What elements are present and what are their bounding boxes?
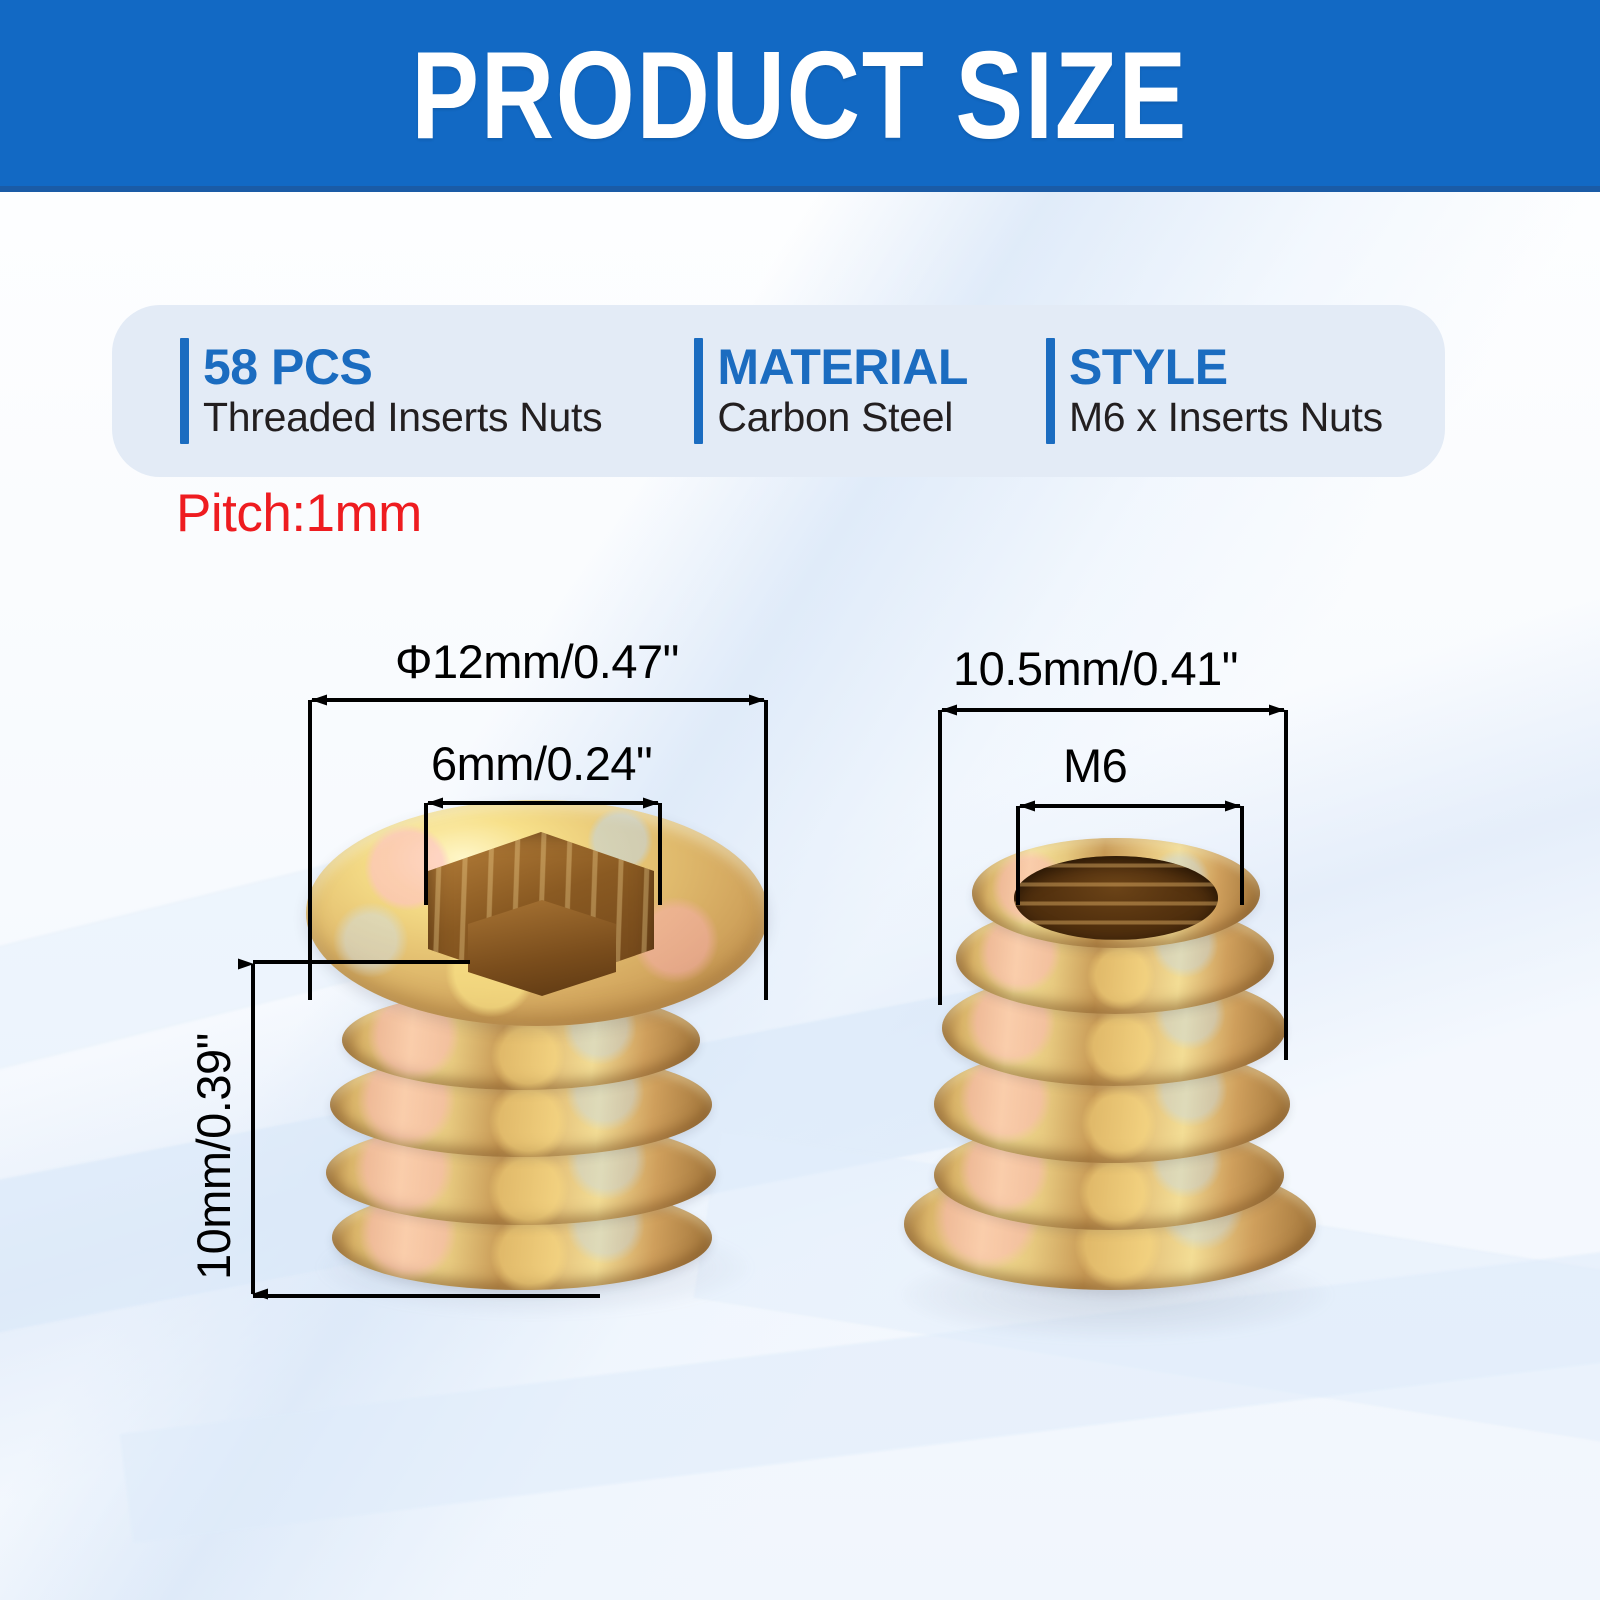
infographic-page: PRODUCT SIZE 58 PCS Threaded Inserts Nut… [0, 0, 1600, 1600]
spec-subtitle: M6 x Inserts Nuts [1069, 395, 1383, 441]
page-title: PRODUCT SIZE [412, 34, 1189, 158]
accent-bar [180, 338, 189, 444]
product-image-insert-bore-view [890, 790, 1350, 1320]
threaded-bore [1014, 856, 1218, 940]
spec-item-style: STYLE M6 x Inserts Nuts [1046, 338, 1383, 444]
accent-bar [694, 338, 703, 444]
spec-subtitle: Threaded Inserts Nuts [203, 395, 602, 441]
product-image-hex-drive-insert [300, 790, 800, 1310]
spec-item-quantity: 58 PCS Threaded Inserts Nuts [180, 338, 602, 444]
internal-thread-marks [1014, 856, 1218, 940]
spec-title: 58 PCS [203, 341, 602, 393]
spec-title: STYLE [1069, 341, 1383, 393]
spec-card: 58 PCS Threaded Inserts Nuts MATERIAL Ca… [112, 305, 1445, 477]
spec-title: MATERIAL [717, 341, 968, 393]
spec-item-material: MATERIAL Carbon Steel [694, 338, 968, 444]
dimension-label-hex-socket: 6mm/0.24" [431, 740, 652, 787]
pitch-note: Pitch:1mm [176, 487, 422, 540]
dimension-label-thread-size: M6 [1063, 742, 1127, 789]
header-banner: PRODUCT SIZE [0, 0, 1600, 192]
header-underline [0, 186, 1600, 192]
spec-subtitle: Carbon Steel [717, 395, 968, 441]
product-photo-stage [0, 540, 1600, 1600]
dimension-label-body-diameter: 10.5mm/0.41" [953, 645, 1238, 692]
dimension-label-outer-diameter: Φ12mm/0.47" [395, 638, 679, 685]
accent-bar [1046, 338, 1055, 444]
dimension-label-length: 10mm/0.39" [190, 1033, 237, 1280]
